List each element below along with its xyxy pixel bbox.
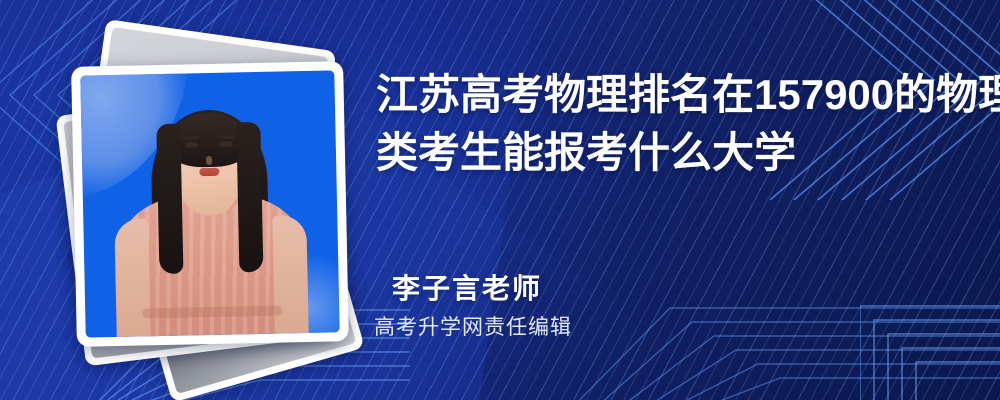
headline-line-1: 江苏高考物理排名在157900的物理 (376, 66, 976, 124)
article-header-banner: 江苏高考物理排名在157900的物理 类考生能报考什么大学 李子言老师 高考升学… (0, 0, 1000, 400)
byline-block: 李子言老师 高考升学网责任编辑 (392, 270, 572, 344)
author-photo-stack (52, 38, 352, 358)
portrait-figure (80, 70, 339, 337)
author-photo-card (71, 61, 349, 347)
author-portrait (80, 70, 339, 337)
headline-line-2: 类考生能报考什么大学 (376, 124, 976, 182)
author-role: 高考升学网责任编辑 (374, 312, 572, 344)
author-name: 李子言老师 (392, 270, 572, 308)
headline-block: 江苏高考物理排名在157900的物理 类考生能报考什么大学 (376, 66, 976, 182)
